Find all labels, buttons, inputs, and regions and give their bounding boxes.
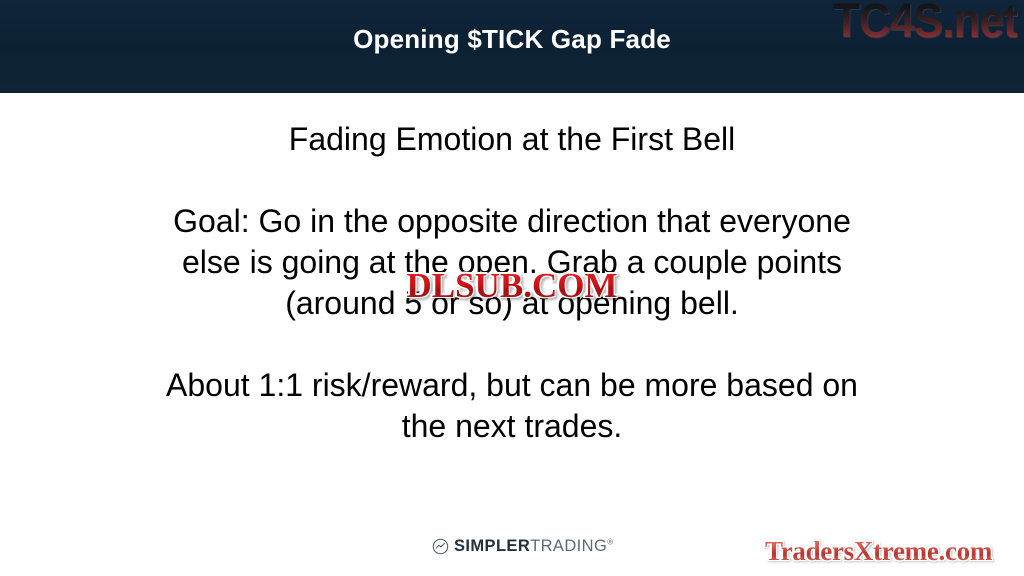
body-line: About 1:1 risk/reward, but can be more b… bbox=[64, 365, 960, 406]
simpler-trading-logo: SIMPLERTRADING® bbox=[432, 538, 614, 555]
paragraph-spacer bbox=[64, 324, 960, 365]
simpler-word: SIMPLER bbox=[454, 537, 530, 555]
tc4s-watermark: TC4S.net bbox=[833, 0, 1017, 49]
simpler-trading-wordmark: SIMPLERTRADING® bbox=[454, 538, 614, 555]
body-line: Fading Emotion at the First Bell bbox=[64, 119, 960, 160]
registered-mark: ® bbox=[607, 538, 613, 547]
dlsub-watermark: DLSUB.COM bbox=[376, 267, 648, 305]
body-line: Goal: Go in the opposite direction that … bbox=[64, 201, 960, 242]
chart-circle-icon bbox=[432, 538, 449, 555]
trading-word: TRADING bbox=[530, 537, 607, 555]
body-line: the next trades. bbox=[64, 406, 960, 447]
paragraph-spacer bbox=[64, 160, 960, 201]
tradersxtreme-watermark: TradersXtreme.com bbox=[765, 536, 992, 567]
